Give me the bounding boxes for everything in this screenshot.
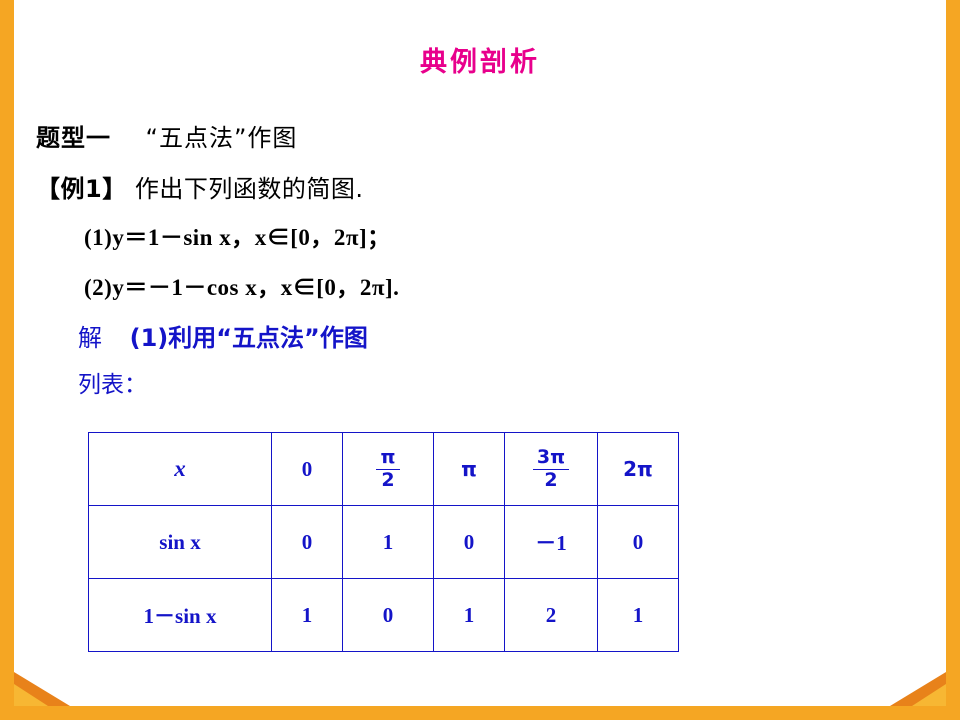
- topic-line: 题型一 “五点法”作图: [36, 118, 926, 153]
- cell-sin-3: －1: [505, 506, 598, 579]
- cell-result-3: 2: [505, 579, 598, 652]
- row-header-one-minus-sin-x: 1－sin x: [89, 579, 272, 652]
- cell-result-2: 1: [434, 579, 505, 652]
- fraction-pi-over-2: π 2: [376, 448, 399, 491]
- topic-label: 题型一: [36, 124, 111, 152]
- corner-ornament-right-inner: [912, 684, 946, 706]
- solution-label: 解: [78, 324, 102, 352]
- cell-x-4: 2π: [598, 433, 679, 506]
- cell-x-1: π 2: [343, 433, 434, 506]
- cell-result-1: 0: [343, 579, 434, 652]
- cell-x-3: 3π 2: [505, 433, 598, 506]
- equation-1: (1)y＝1－sin x，x∈[0，2π]；: [84, 218, 926, 252]
- solution-text: (1)利用“五点法”作图: [130, 324, 368, 352]
- equation-2: (2)y＝－1－cos x，x∈[0，2π].: [84, 268, 926, 302]
- slide-title: 典例剖析: [0, 40, 960, 79]
- table-intro: 列表：: [78, 365, 926, 399]
- cell-x-2: π: [434, 433, 505, 506]
- example-line: 【例1】 作出下列函数的简图.: [36, 169, 926, 204]
- table-row: x 0 π 2 π 3π 2 2π: [89, 433, 679, 506]
- slide-body: 题型一 “五点法”作图 【例1】 作出下列函数的简图. (1)y＝1－sin x…: [36, 118, 926, 407]
- table-row: sin x 0 1 0 －1 0: [89, 506, 679, 579]
- decorative-bottom-border: [0, 706, 960, 720]
- cell-x-0: 0: [272, 433, 343, 506]
- row-header-x: x: [89, 433, 272, 506]
- solution-line: 解 (1)利用“五点法”作图: [78, 318, 926, 353]
- row-header-sin-x: sin x: [89, 506, 272, 579]
- table-row: 1－sin x 1 0 1 2 1: [89, 579, 679, 652]
- topic-text: “五点法”作图: [146, 124, 298, 152]
- cell-result-0: 1: [272, 579, 343, 652]
- cell-sin-1: 1: [343, 506, 434, 579]
- decorative-right-border: [946, 0, 960, 720]
- five-point-table: x 0 π 2 π 3π 2 2π sin x 0 1 0 －1: [88, 432, 679, 652]
- decorative-left-border: [0, 0, 14, 720]
- cell-sin-4: 0: [598, 506, 679, 579]
- example-text: 作出下列函数的简图.: [135, 175, 364, 203]
- cell-result-4: 1: [598, 579, 679, 652]
- corner-ornament-left-inner: [14, 684, 48, 706]
- five-point-table-wrapper: x 0 π 2 π 3π 2 2π sin x 0 1 0 －1: [88, 432, 679, 652]
- example-label: 【例1】: [36, 175, 127, 203]
- fraction-3pi-over-2: 3π 2: [533, 448, 569, 491]
- cell-sin-2: 0: [434, 506, 505, 579]
- cell-sin-0: 0: [272, 506, 343, 579]
